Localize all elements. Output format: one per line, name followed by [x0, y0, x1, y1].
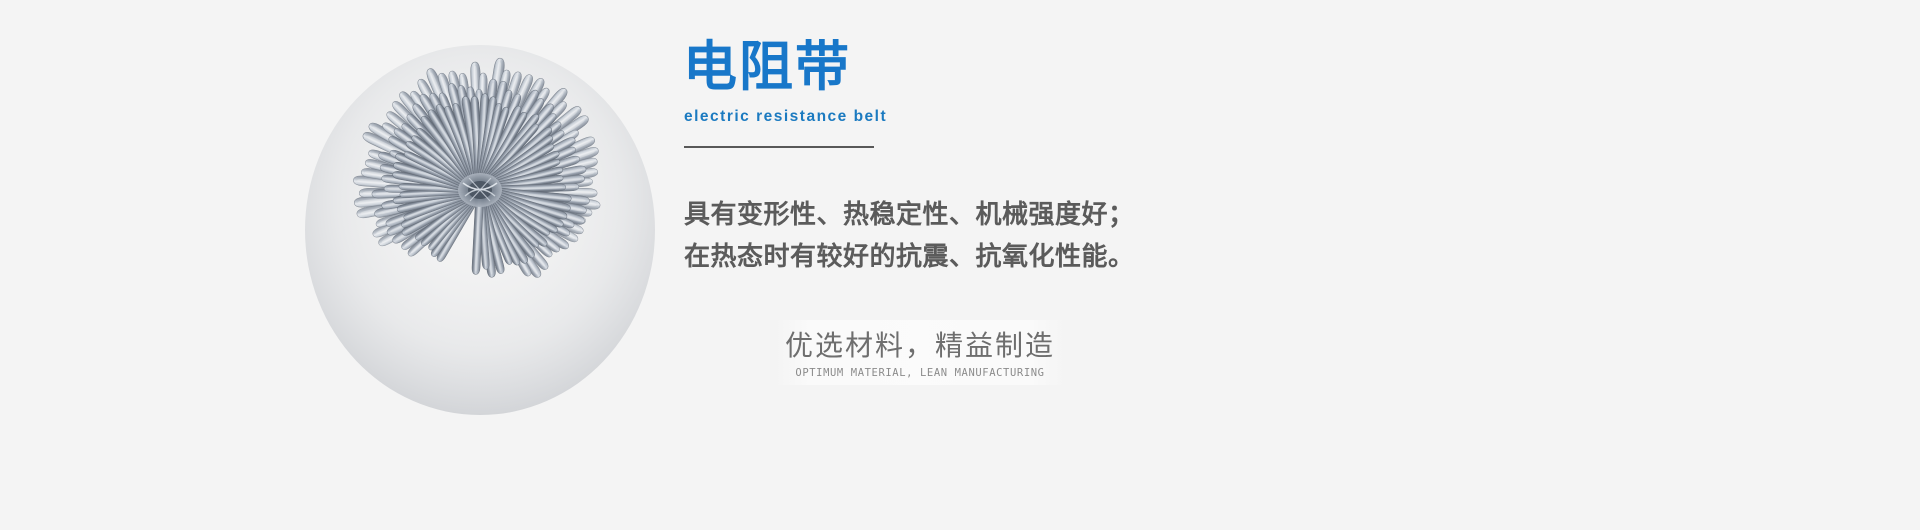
description-line-2: 在热态时有较好的抗震、抗氧化性能。	[684, 236, 1501, 278]
product-banner: 电阻带 electric resistance belt 具有变形性、热稳定性、…	[0, 0, 1920, 530]
page-subtitle-english: electric resistance belt	[684, 108, 1501, 126]
tagline-english: OPTIMUM MATERIAL, LEAN MANUFACTURING	[775, 367, 1065, 379]
title-divider	[684, 146, 874, 148]
resistance-belt-coil-photo	[300, 40, 660, 440]
product-image	[300, 40, 660, 440]
tagline-block: 优选材料，精益制造 OPTIMUM MATERIAL, LEAN MANUFAC…	[775, 320, 1065, 385]
description-line-1: 具有变形性、热稳定性、机械强度好；	[684, 194, 1501, 236]
tagline-chinese: 优选材料，精益制造	[775, 328, 1065, 363]
banner-text-column: 电阻带 electric resistance belt 具有变形性、热稳定性、…	[681, 40, 1501, 490]
product-description: 具有变形性、热稳定性、机械强度好； 在热态时有较好的抗震、抗氧化性能。	[684, 194, 1501, 278]
page-title: 电阻带	[681, 40, 1501, 94]
